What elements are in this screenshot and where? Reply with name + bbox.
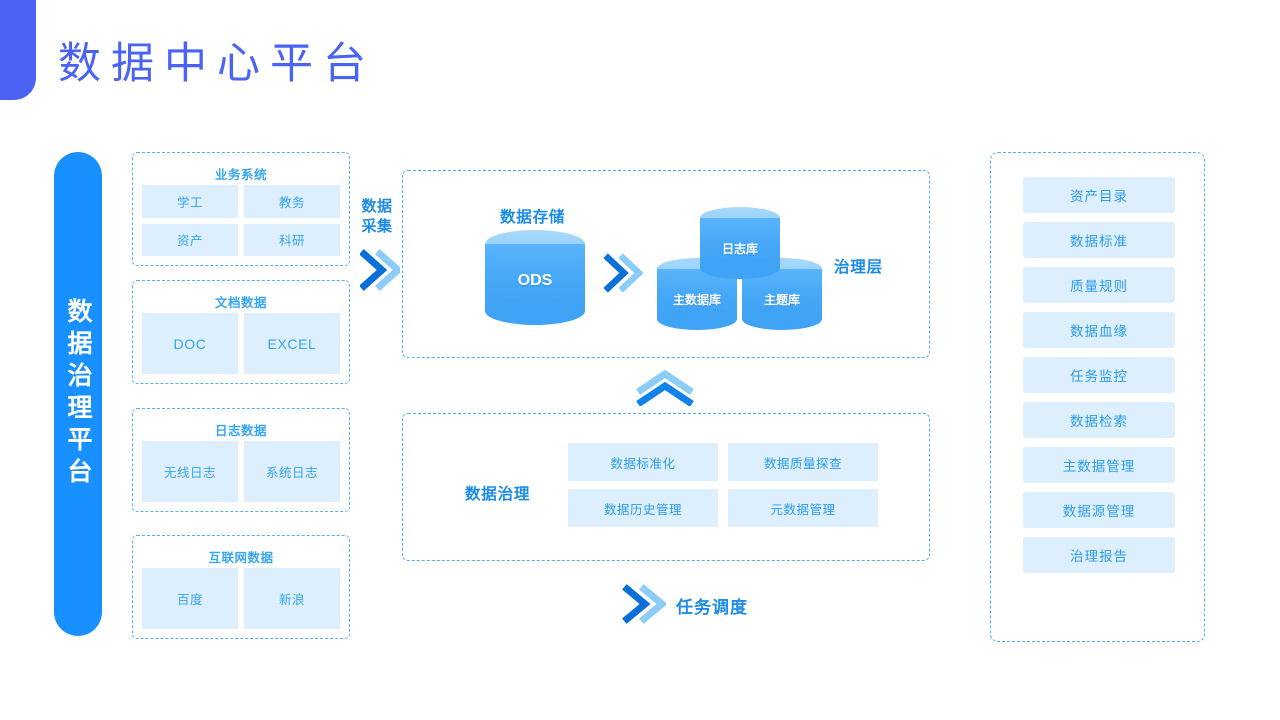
governance-item[interactable]: 数据质量探查 xyxy=(728,443,878,481)
capability-item-data-source[interactable]: 数据源管理 xyxy=(1023,492,1175,528)
source-chip[interactable]: DOC xyxy=(142,313,238,374)
capability-item-data-search[interactable]: 数据检索 xyxy=(1023,402,1175,438)
cylinder-log-db-label: 日志库 xyxy=(700,239,780,257)
governance-item[interactable]: 数据标准化 xyxy=(568,443,718,481)
data-collection-label: 数据 采集 xyxy=(352,197,402,237)
source-chip[interactable]: 学工 xyxy=(142,185,238,218)
double-chevron-up-icon xyxy=(636,370,694,411)
source-group-title: 业务系统 xyxy=(133,164,349,183)
governance-item[interactable]: 数据历史管理 xyxy=(568,489,718,527)
source-group-title: 文档数据 xyxy=(133,292,349,311)
cylinder-ods[interactable]: ODS xyxy=(485,230,585,325)
source-chip[interactable]: 无线日志 xyxy=(142,441,238,502)
cylinder-log-db[interactable]: 日志库 xyxy=(700,207,780,279)
capabilities-panel: 资产目录 数据标准 质量规则 数据血缘 任务监控 数据检索 主数据管理 数据源管… xyxy=(990,152,1205,642)
page-title: 数据中心平台 xyxy=(58,36,376,94)
chevron-right-icon xyxy=(603,252,643,294)
governance-item-grid: 数据标准化 数据质量探查 数据历史管理 元数据管理 xyxy=(568,443,878,527)
double-chevron-right-icon xyxy=(360,248,400,292)
source-group-title: 日志数据 xyxy=(133,420,349,439)
capability-item-asset-catalog[interactable]: 资产目录 xyxy=(1023,177,1175,213)
platform-sidebar-bar: 数据治理平台 xyxy=(54,152,102,636)
source-chip[interactable]: 教务 xyxy=(244,185,340,218)
data-collection-label-line2: 采集 xyxy=(361,218,392,235)
data-storage-label: 数据存储 xyxy=(500,205,565,227)
source-chip[interactable]: 资产 xyxy=(142,224,238,257)
source-group-document[interactable]: 文档数据 DOC EXCEL xyxy=(132,280,350,384)
capability-item-quality-rule[interactable]: 质量规则 xyxy=(1023,267,1175,303)
corner-decoration xyxy=(0,0,36,100)
capability-item-data-standard[interactable]: 数据标准 xyxy=(1023,222,1175,258)
task-schedule-label: 任务调度 xyxy=(676,593,748,618)
capabilities-list: 资产目录 数据标准 质量规则 数据血缘 任务监控 数据检索 主数据管理 数据源管… xyxy=(1023,177,1175,573)
cylinder-ods-label: ODS xyxy=(485,270,585,292)
source-chip[interactable]: 百度 xyxy=(142,568,238,629)
governance-item[interactable]: 元数据管理 xyxy=(728,489,878,527)
governance-layer-label: 治理层 xyxy=(834,255,883,277)
cylinder-master-db-label: 主数据库 xyxy=(657,290,737,308)
source-group-log[interactable]: 日志数据 无线日志 系统日志 xyxy=(132,408,350,512)
source-group-internet[interactable]: 互联网数据 百度 新浪 xyxy=(132,535,350,639)
double-chevron-right-icon-schedule xyxy=(622,582,666,626)
capability-item-task-monitor[interactable]: 任务监控 xyxy=(1023,357,1175,393)
source-chip[interactable]: EXCEL xyxy=(244,313,340,374)
cylinder-subject-db-label: 主题库 xyxy=(742,290,822,308)
capability-item-governance-report[interactable]: 治理报告 xyxy=(1023,537,1175,573)
capability-item-master-data[interactable]: 主数据管理 xyxy=(1023,447,1175,483)
source-group-business[interactable]: 业务系统 学工 教务 资产 科研 xyxy=(132,152,350,266)
data-governance-label: 数据治理 xyxy=(465,482,530,504)
source-group-title: 互联网数据 xyxy=(133,547,349,566)
slide-canvas: 数据中心平台 数据治理平台 业务系统 学工 教务 资产 科研 文档数据 DOC … xyxy=(0,0,1280,720)
data-collection-label-line1: 数据 xyxy=(361,198,392,215)
source-chip[interactable]: 科研 xyxy=(244,224,340,257)
source-chip[interactable]: 系统日志 xyxy=(244,441,340,502)
source-chip[interactable]: 新浪 xyxy=(244,568,340,629)
platform-sidebar-label: 数据治理平台 xyxy=(63,298,93,490)
capability-item-data-lineage[interactable]: 数据血缘 xyxy=(1023,312,1175,348)
